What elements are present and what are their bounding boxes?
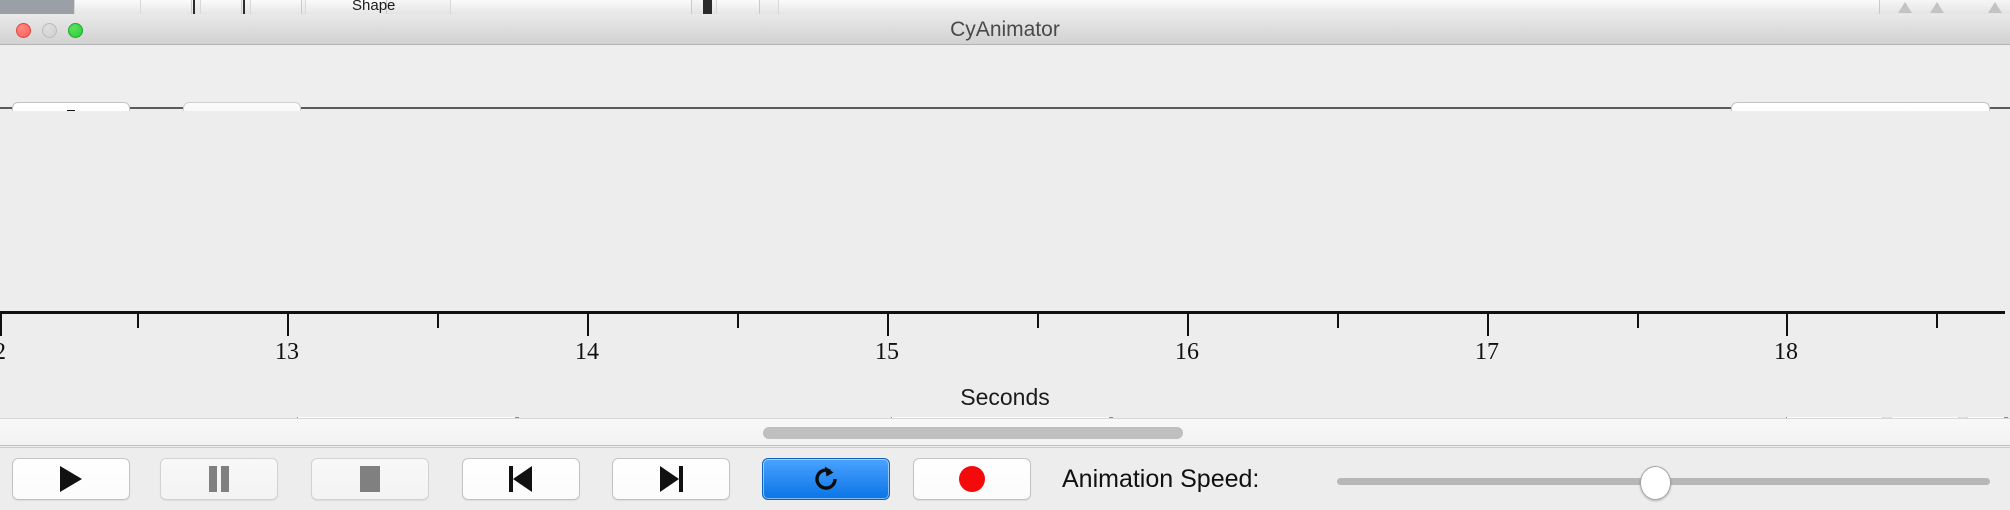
frame-strip[interactable]: MCM1 <box>0 111 2010 311</box>
loop-icon <box>811 464 841 494</box>
play-icon <box>60 466 82 492</box>
timeline-tick-major <box>287 314 289 336</box>
timeline-tick-major <box>587 314 589 336</box>
timeline-tick-minor <box>1337 314 1339 328</box>
timeline-scrollbar[interactable] <box>0 418 2010 446</box>
bg-chip <box>716 0 760 14</box>
bg-mark <box>703 0 712 14</box>
bg-chip <box>200 0 242 14</box>
bg-chip <box>450 0 692 14</box>
skip-end-icon <box>659 466 683 492</box>
maximize-button[interactable] <box>68 23 83 38</box>
title-bar[interactable]: CyAnimator <box>0 14 2010 45</box>
bg-chip <box>140 0 192 14</box>
timeline-tick-major <box>1786 314 1788 336</box>
bg-triangle-icon <box>1898 2 1912 13</box>
timeline-tick-minor <box>1637 314 1639 328</box>
stop-icon <box>360 466 380 492</box>
timeline-tick-minor <box>137 314 139 328</box>
bg-chip <box>74 0 142 14</box>
bg-triangle-icon <box>1930 2 1944 13</box>
bg-dark-chip <box>0 0 74 14</box>
timeline-ruler[interactable]: 2131415161718 Seconds <box>0 311 2010 417</box>
timeline-tick-major <box>887 314 889 336</box>
loop-button[interactable] <box>762 458 890 500</box>
timeline-tick-label: 17 <box>1475 339 1499 366</box>
timeline-axis <box>0 311 2005 314</box>
minimize-button[interactable] <box>42 23 57 38</box>
timeline-tick-label: 2 <box>0 339 6 366</box>
close-button[interactable] <box>16 23 31 38</box>
timeline-tick-label: 13 <box>275 339 299 366</box>
timeline-tick-major <box>1487 314 1489 336</box>
timeline-tick-major <box>1187 314 1189 336</box>
timeline-tick-label: 16 <box>1175 339 1199 366</box>
window-title: CyAnimator <box>0 14 2010 45</box>
background-window-label: Shape <box>352 0 395 14</box>
pause-button[interactable] <box>160 458 278 500</box>
timeline-tick-label: 14 <box>575 339 599 366</box>
timeline-axis-title: Seconds <box>0 384 2010 411</box>
pause-icon <box>208 466 230 492</box>
skip-start-icon <box>509 466 533 492</box>
animation-speed-slider-thumb[interactable] <box>1640 466 1671 500</box>
bg-mark <box>243 0 245 14</box>
bg-triangle-icon <box>1988 2 2002 13</box>
bg-chip <box>250 0 302 14</box>
timeline-tick-major <box>0 314 2 336</box>
bg-mark <box>193 0 195 14</box>
record-button[interactable] <box>913 458 1031 500</box>
timeline-tick-minor <box>437 314 439 328</box>
background-app-strip: Shape <box>0 0 2010 15</box>
frame-toolbar: Clear All Frames <box>0 46 2010 109</box>
animation-speed-label: Animation Speed: <box>1062 458 1259 500</box>
play-button[interactable] <box>12 458 130 500</box>
timeline-tick-minor <box>737 314 739 328</box>
record-icon <box>959 466 985 492</box>
skip-to-start-button[interactable] <box>462 458 580 500</box>
stop-button[interactable] <box>311 458 429 500</box>
bg-chip <box>778 0 1880 14</box>
timeline-tick-minor <box>1037 314 1039 328</box>
cyanimator-window: Shape CyAnimator Clear All Frames <box>0 0 2010 510</box>
scrollbar-thumb[interactable] <box>763 427 1183 439</box>
skip-to-end-button[interactable] <box>612 458 730 500</box>
timeline-tick-label: 18 <box>1774 339 1798 366</box>
timeline-tick-label: 15 <box>875 339 899 366</box>
timeline-tick-minor <box>1936 314 1938 328</box>
